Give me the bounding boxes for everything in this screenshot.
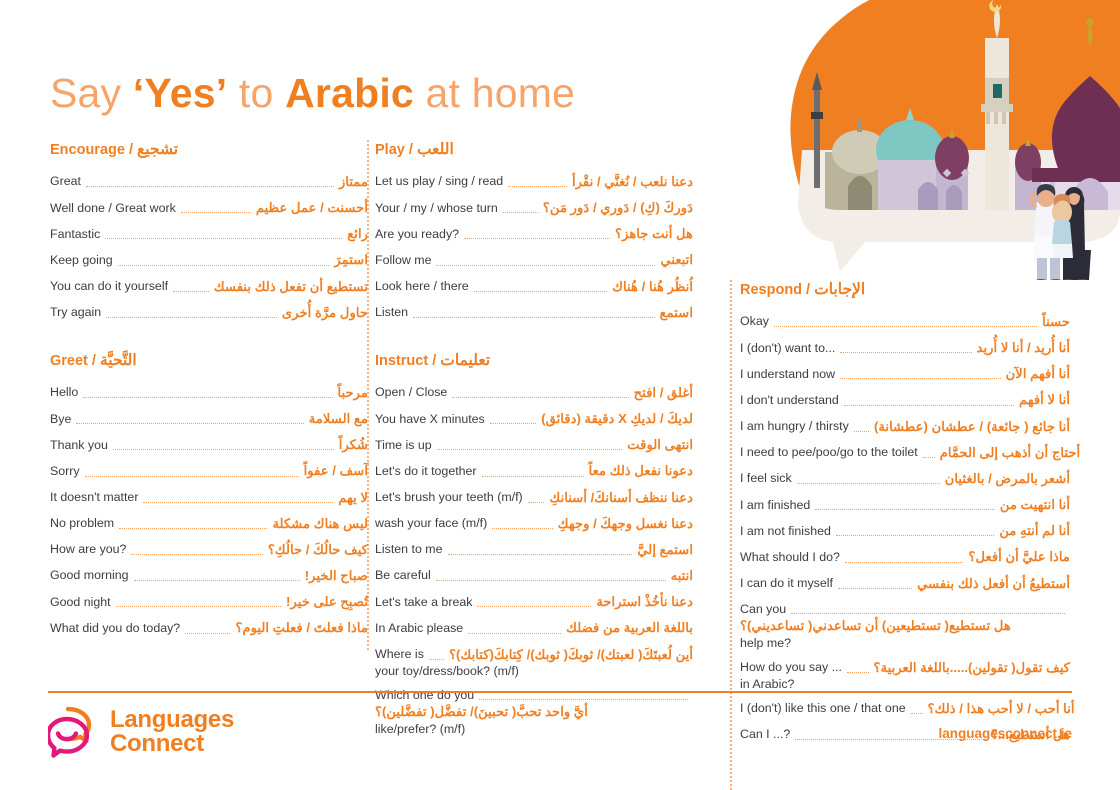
dot-leader	[774, 316, 1037, 327]
family-figures	[1032, 184, 1091, 280]
phrase-arabic: انتبه	[671, 567, 693, 584]
phrase-arabic: باللغة العربية من فضلك	[566, 619, 693, 636]
phrase-row: I don't understandأنا لا أفهم	[740, 391, 1070, 408]
title-yes: ‘Yes’	[133, 70, 227, 116]
phrase-arabic: دعنا نلعب / نُغنَّي / نقْرأ	[572, 173, 693, 190]
phrase-english: Well done / Great work	[50, 200, 176, 217]
phrase-arabic: انتهى الوقت	[627, 436, 693, 453]
section-title-ar: اللعب	[417, 141, 454, 158]
phrase-english: Follow me	[375, 252, 431, 269]
phrase-english: Can you	[740, 601, 786, 618]
dot-leader	[134, 570, 300, 581]
phrase-row: I (don't) want to...أنا أُريد / أنا لا أ…	[740, 339, 1070, 356]
section-title-en: Respond	[740, 282, 802, 298]
section-respond: Respond / الإجابات OkayحسناًI (don't) wa…	[740, 280, 1070, 743]
phrase-arabic: دعنا ننظف أسنانكَ/ أسنانكِ	[549, 489, 693, 506]
phrase-english: Fantastic	[50, 226, 100, 243]
section-title-instruct: Instruct / تعليمات	[375, 351, 693, 370]
phrase-english: Hello	[50, 384, 78, 401]
dot-leader	[477, 596, 591, 607]
phrase-english: I need to pee/poo/go to the toilet	[740, 444, 918, 461]
phrase-english: Try again	[50, 304, 101, 321]
phrase-english: What should I do?	[740, 549, 840, 566]
phrase-row: In Arabic pleaseباللغة العربية من فضلك	[375, 619, 693, 636]
phrase-english: Be careful	[375, 567, 431, 584]
dot-leader	[118, 255, 330, 266]
phrase-arabic: أين لُعبتَكَ( لعبتك)/ ثوبكَ( ثوبك)/ كِتا…	[449, 646, 693, 663]
phrase-row: Sorryآسف / عفواً	[50, 462, 368, 479]
phrase-row: Greatممتاز	[50, 173, 368, 190]
dot-leader	[429, 649, 444, 660]
dot-leader	[923, 447, 935, 458]
phrase-english: In Arabic please	[375, 620, 463, 637]
section-title-en: Encourage	[50, 142, 125, 158]
phrase-row: How do you say ...كيف تقول( تقولين).....…	[740, 659, 1070, 691]
phrase-english: Open / Close	[375, 384, 447, 401]
phrase-english-line2: help me?	[740, 636, 1070, 650]
phrase-row: It doesn't matterلا يهم	[50, 489, 368, 506]
phrase-english: Let us play / sing / read	[375, 173, 503, 190]
dot-leader	[185, 623, 230, 634]
dot-leader	[838, 578, 912, 589]
column-one: Encourage / تشجيع GreatممتازWell done / …	[50, 140, 368, 646]
title-part-3: at home	[414, 70, 575, 116]
phrase-english: Okay	[740, 313, 769, 330]
phrase-english-line2: in Arabic?	[740, 677, 1070, 691]
phrase-row: What did you do today?ماذا فعلتَ / فعلتِ…	[50, 619, 368, 636]
phrase-arabic: اتبعني	[660, 251, 693, 268]
dot-leader	[508, 176, 567, 187]
phrase-english: I am hungry / thirsty	[740, 418, 849, 435]
section-title-sep: /	[428, 353, 440, 369]
phrase-row: Let's take a breakدعنا نأخُذْ استراحة	[375, 593, 693, 610]
phrase-arabic: صباح الخير!	[305, 567, 368, 584]
phrase-english: How are you?	[50, 541, 126, 558]
phrase-row: Helloمرحباً	[50, 384, 368, 401]
section-title-ar: تعليمات	[440, 352, 490, 369]
phrase-english: Which one do you	[375, 687, 474, 704]
dot-leader	[840, 368, 1001, 379]
phrase-english: I can do it myself	[740, 575, 833, 592]
phrase-english: Bye	[50, 411, 71, 428]
phrase-arabic: تُصبِح على خير!	[286, 593, 368, 610]
phrase-arabic: أنا لم أنتهِ من	[999, 522, 1070, 539]
phrase-arabic: لديكَ / لديكِ X دقيقة (دقائق)	[541, 410, 693, 427]
phrase-row: Fantasticرائع	[50, 225, 368, 242]
dot-leader	[791, 603, 1065, 614]
phrase-row: Good nightتُصبِح على خير!	[50, 593, 368, 610]
phrase-row: Are you ready?هل أنت جاهز؟	[375, 225, 693, 242]
phrase-english: Time is up	[375, 437, 432, 454]
phrase-arabic: أغلق / افتح	[634, 384, 693, 401]
page-title: Say ‘Yes’ to Arabic at home	[50, 71, 575, 116]
phrase-row: Let's brush your teeth (m/f)دعنا ننظف أس…	[375, 489, 693, 506]
phrase-row: You can do it yourselfتستطيع أن تفعل ذلك…	[50, 278, 368, 295]
phrase-list-greet: HelloمرحباًByeمع السلامةThank youشُكراًS…	[50, 384, 368, 637]
dot-leader	[854, 421, 869, 432]
dot-leader	[815, 499, 995, 510]
dot-leader	[436, 570, 666, 581]
phrase-row: Thank youشُكراً	[50, 436, 368, 453]
section-play: Play / اللعب Let us play / sing / readدع…	[375, 140, 693, 321]
logo-line-2: Connect	[110, 732, 234, 756]
phrase-english: Great	[50, 173, 81, 190]
phrase-arabic: شُكراً	[339, 436, 368, 453]
phrase-arabic: تستطيع أن تفعل ذلك بنفسك	[214, 278, 368, 295]
title-part-1: Say	[50, 70, 133, 116]
section-encourage: Encourage / تشجيع GreatممتازWell done / …	[50, 140, 368, 321]
phrase-row: Can youهل تستطيع( تستطيعين) أن تساعدني( …	[740, 601, 1070, 650]
logo-line-1: Languages	[110, 708, 234, 732]
dot-leader	[490, 413, 536, 424]
dot-leader	[105, 228, 342, 239]
phrase-english: Let's take a break	[375, 594, 472, 611]
section-title-sep: /	[125, 142, 137, 158]
phrase-arabic: هل أنت جاهز؟	[615, 225, 693, 242]
phrase-row: I (don't) like this one / that oneأنا أح…	[740, 700, 1070, 717]
dot-leader	[85, 466, 299, 477]
phrase-english: What did you do today?	[50, 620, 180, 637]
dot-leader	[436, 255, 655, 266]
dot-leader	[116, 596, 281, 607]
dot-leader	[437, 439, 623, 450]
dot-leader	[131, 544, 262, 555]
phrase-row: Listen to meاستمع إليَّ	[375, 541, 693, 558]
section-title-ar: التَّحيَّة	[100, 352, 137, 369]
section-title-respond: Respond / الإجابات	[740, 280, 1070, 299]
phrase-list-instruct: Open / Closeأغلق / افتحYou have X minute…	[375, 384, 693, 736]
section-title-en: Play	[375, 142, 405, 158]
phrase-english: I don't understand	[740, 392, 839, 409]
phrase-row: Let us play / sing / readدعنا نلعب / نُغ…	[375, 173, 693, 190]
website-url[interactable]: languagesconnect.ie	[938, 726, 1072, 741]
phrase-arabic: دعنا نغسل وجهكَ / وجهكِ	[558, 515, 693, 532]
phrase-arabic: رائع	[347, 225, 368, 242]
phrase-arabic: مع السلامة	[309, 410, 368, 427]
phrase-arabic: أشعر بالمرض / بالغثيان	[945, 470, 1070, 487]
phrase-row: Which one do youأيَّ واحد تحبَّ( تحبينَ)…	[375, 687, 693, 736]
phrase-english: I (don't) like this one / that one	[740, 700, 906, 717]
dot-leader	[911, 703, 923, 714]
dot-leader	[86, 176, 334, 187]
phrase-arabic: استمع إليَّ	[637, 541, 693, 558]
phrase-row: Time is upانتهى الوقت	[375, 436, 693, 453]
phrase-arabic: دعونا نفعل ذلك معاً	[589, 462, 693, 479]
phrase-arabic: آسف / عفواً	[304, 462, 368, 479]
phrase-row: How are you?كيف حالُكَ / حالُكِ؟	[50, 541, 368, 558]
phrase-arabic: ممتاز	[339, 173, 368, 190]
title-part-2: to	[227, 70, 285, 116]
phrase-english: Let's brush your teeth (m/f)	[375, 489, 523, 506]
phrase-row: Try againحاول مرَّة أُخرى	[50, 304, 368, 321]
phrase-english: Thank you	[50, 437, 108, 454]
phrase-row: I need to pee/poo/go to the toiletأحتاج …	[740, 444, 1070, 461]
phrase-english: Sorry	[50, 463, 80, 480]
mosque-steps	[982, 236, 1120, 260]
phrase-row: I am finishedأنا انتهيت من	[740, 496, 1070, 513]
phrase-row: No problemليس هناك مشكلة	[50, 515, 368, 532]
phrase-arabic: أحسنت / عمل عظيم	[256, 199, 368, 216]
phrase-arabic: لا يهم	[338, 489, 368, 506]
phrase-row: Well done / Great workأحسنت / عمل عظيم	[50, 199, 368, 216]
dot-leader	[836, 525, 994, 536]
section-title-sep: /	[88, 353, 100, 369]
section-title-encourage: Encourage / تشجيع	[50, 140, 368, 159]
column-two: Play / اللعب Let us play / sing / readدع…	[375, 140, 693, 745]
phrase-english: I feel sick	[740, 470, 792, 487]
dot-leader	[113, 439, 334, 450]
phrase-row: I understand nowأنا أفهم الآن	[740, 365, 1070, 382]
dot-leader	[83, 387, 332, 398]
phrase-arabic: أستطيعُ أن أفعل ذلك بنفسي	[917, 575, 1070, 592]
dot-leader	[474, 281, 607, 292]
dot-leader	[482, 466, 584, 477]
phrase-row: I am hungry / thirstyأنا جائع ( جائعة) /…	[740, 418, 1070, 435]
phrase-english: Can I ...?	[740, 726, 790, 743]
phrase-english-line2: like/prefer? (m/f)	[375, 722, 693, 736]
dot-leader	[448, 544, 633, 555]
dot-leader	[452, 387, 628, 398]
phrase-arabic: أنا أفهم الآن	[1006, 365, 1070, 382]
phrase-row: wash your face (m/f)دعنا نغسل وجهكَ / وج…	[375, 515, 693, 532]
phrase-english: wash your face (m/f)	[375, 515, 487, 532]
dot-leader	[797, 473, 940, 484]
column-divider-2	[730, 280, 732, 790]
phrase-english: You can do it yourself	[50, 278, 168, 295]
phrase-arabic: كيف تقول( تقولين).....باللغة العربية؟	[874, 659, 1070, 676]
phrase-list-play: Let us play / sing / readدعنا نلعب / نُغ…	[375, 173, 693, 321]
phrase-english-line2: your toy/dress/book? (m/f)	[375, 664, 693, 678]
phrase-arabic: أنا أُريد / أنا لا أُريد	[977, 339, 1070, 356]
phrase-english: It doesn't matter	[50, 489, 138, 506]
section-title-sep: /	[802, 282, 814, 298]
section-title-ar: تشجيع	[137, 141, 178, 158]
phrase-english: I (don't) want to...	[740, 340, 835, 357]
phrase-arabic: هل تستطيع( تستطيعين) أن تساعدني( تساعدين…	[740, 617, 1011, 634]
dot-leader	[143, 492, 333, 503]
phrase-arabic: أنا جائع ( جائعة) / عطشان (عطشانة)	[874, 418, 1070, 435]
phrase-row: I feel sickأشعر بالمرض / بالغثيان	[740, 470, 1070, 487]
languages-connect-logo[interactable]: Languages Connect	[48, 705, 234, 759]
dot-leader	[173, 281, 209, 292]
dot-leader	[847, 662, 869, 673]
phrase-arabic: دعنا نأخُذْ استراحة	[596, 593, 693, 610]
phrase-row: Byeمع السلامة	[50, 410, 368, 427]
phrase-english: Your / my / whose turn	[375, 200, 498, 217]
phrase-row: Okayحسناً	[740, 313, 1070, 330]
section-title-en: Greet	[50, 353, 88, 369]
phrase-row: Let's do it togetherدعونا نفعل ذلك معاً	[375, 462, 693, 479]
dot-leader	[464, 228, 610, 239]
phrase-arabic: أنا لا أفهم	[1019, 391, 1070, 408]
section-instruct: Instruct / تعليمات Open / Closeأغلق / اف…	[375, 351, 693, 736]
title-language: Arabic	[285, 70, 414, 116]
phrase-english: Listen to me	[375, 541, 443, 558]
phrase-row: Open / Closeأغلق / افتح	[375, 384, 693, 401]
dot-leader	[76, 413, 303, 424]
phrase-arabic: حسناً	[1042, 313, 1070, 330]
phrase-english: Good night	[50, 594, 111, 611]
section-title-greet: Greet / التَّحيَّة	[50, 351, 368, 370]
phrase-english: I understand now	[740, 366, 835, 383]
phrase-row: You have X minutesلديكَ / لديكِ X دقيقة …	[375, 410, 693, 427]
column-three: Respond / الإجابات OkayحسناًI (don't) wa…	[740, 280, 1070, 752]
phrase-list-respond: OkayحسناًI (don't) want to...أنا أُريد /…	[740, 313, 1070, 743]
phrase-row: Where isأين لُعبتَكَ( لعبتك)/ ثوبكَ( ثوب…	[375, 646, 693, 678]
phrase-english: Are you ready?	[375, 226, 459, 243]
phrase-arabic: ليس هناك مشكلة	[272, 515, 368, 532]
dot-leader	[119, 518, 267, 529]
phrase-arabic: حاول مرَّة أُخرى	[282, 304, 368, 321]
phrase-arabic: دَوركَ (كِ) / دَوري / دَور مَن؟	[543, 199, 693, 216]
speech-bubble-logo-icon	[48, 705, 100, 759]
phrase-row: Look here / thereاُنظُر هُنا / هُناك	[375, 278, 693, 295]
phrase-row: Follow meاتبعني	[375, 251, 693, 268]
section-title-sep: /	[405, 142, 417, 158]
dot-leader	[845, 552, 964, 563]
hero-illustration	[690, 0, 1120, 280]
dot-leader	[492, 518, 552, 529]
phrase-arabic: استمع	[660, 304, 693, 321]
phrase-row: Be carefulانتبه	[375, 567, 693, 584]
phrase-arabic: كيف حالُكَ / حالُكِ؟	[268, 541, 368, 558]
phrase-english: Good morning	[50, 567, 129, 584]
phrase-arabic: أحتاج أن أذهب إلى الحمَّام	[940, 444, 1080, 461]
cream-bubble-shape	[798, 150, 1120, 272]
section-title-en: Instruct	[375, 353, 428, 369]
dot-leader	[106, 307, 277, 318]
dot-leader	[844, 395, 1014, 406]
phrase-english: Listen	[375, 304, 408, 321]
phrase-english: I am finished	[740, 497, 810, 514]
section-title-ar: الإجابات	[814, 281, 865, 298]
phrase-arabic: اُنظُر هُنا / هُناك	[612, 278, 693, 295]
dot-leader	[528, 492, 545, 503]
phrase-english: I am not finished	[740, 523, 831, 540]
footer-divider	[48, 691, 1072, 693]
phrase-arabic: أيَّ واحد تحبَّ( تحبينَ)/ تفضَّل( تفضَّل…	[375, 703, 588, 720]
dot-leader	[840, 342, 971, 353]
dot-leader	[413, 307, 655, 318]
phrase-english: Keep going	[50, 252, 113, 269]
phrase-english: Where is	[375, 646, 424, 663]
phrase-english: No problem	[50, 515, 114, 532]
mosque-scene	[811, 0, 1120, 260]
dot-leader	[468, 623, 561, 634]
logo-wordmark: Languages Connect	[110, 708, 234, 757]
dot-leader	[503, 202, 538, 213]
phrase-english: You have X minutes	[375, 411, 485, 428]
phrase-english: How do you say ...	[740, 659, 842, 676]
phrase-row: Good morningصباح الخير!	[50, 567, 368, 584]
orange-blob-shape	[790, 0, 1120, 212]
section-greet: Greet / التَّحيَّة HelloمرحباًByeمع السل…	[50, 351, 368, 637]
phrase-row: Your / my / whose turnدَوركَ (كِ) / دَور…	[375, 199, 693, 216]
phrase-arabic: أنا أحب / لا أحب هذا / ذلك؟	[928, 700, 1075, 717]
phrase-row: Keep goingاستمِرَ	[50, 251, 368, 268]
phrase-english: Let's do it together	[375, 463, 477, 480]
phrase-list-encourage: GreatممتازWell done / Great workأحسنت / …	[50, 173, 368, 321]
phrase-arabic: ماذا فعلتَ / فعلتِ اليوم؟	[235, 619, 368, 636]
dot-leader	[181, 202, 251, 213]
phrase-arabic: ماذا عليَّ أن أفعل؟	[968, 548, 1070, 565]
phrase-row: I can do it myselfأستطيعُ أن أفعل ذلك بن…	[740, 575, 1070, 592]
phrase-row: What should I do?ماذا عليَّ أن أفعل؟	[740, 548, 1070, 565]
phrase-arabic: أنا انتهيت من	[1000, 496, 1070, 513]
phrase-english: Look here / there	[375, 278, 469, 295]
phrase-arabic: استمِرَ	[334, 251, 368, 268]
section-title-play: Play / اللعب	[375, 140, 693, 159]
phrase-row: Listenاستمع	[375, 304, 693, 321]
phrase-row: I am not finishedأنا لم أنتهِ من	[740, 522, 1070, 539]
phrase-arabic: مرحباً	[338, 384, 369, 401]
